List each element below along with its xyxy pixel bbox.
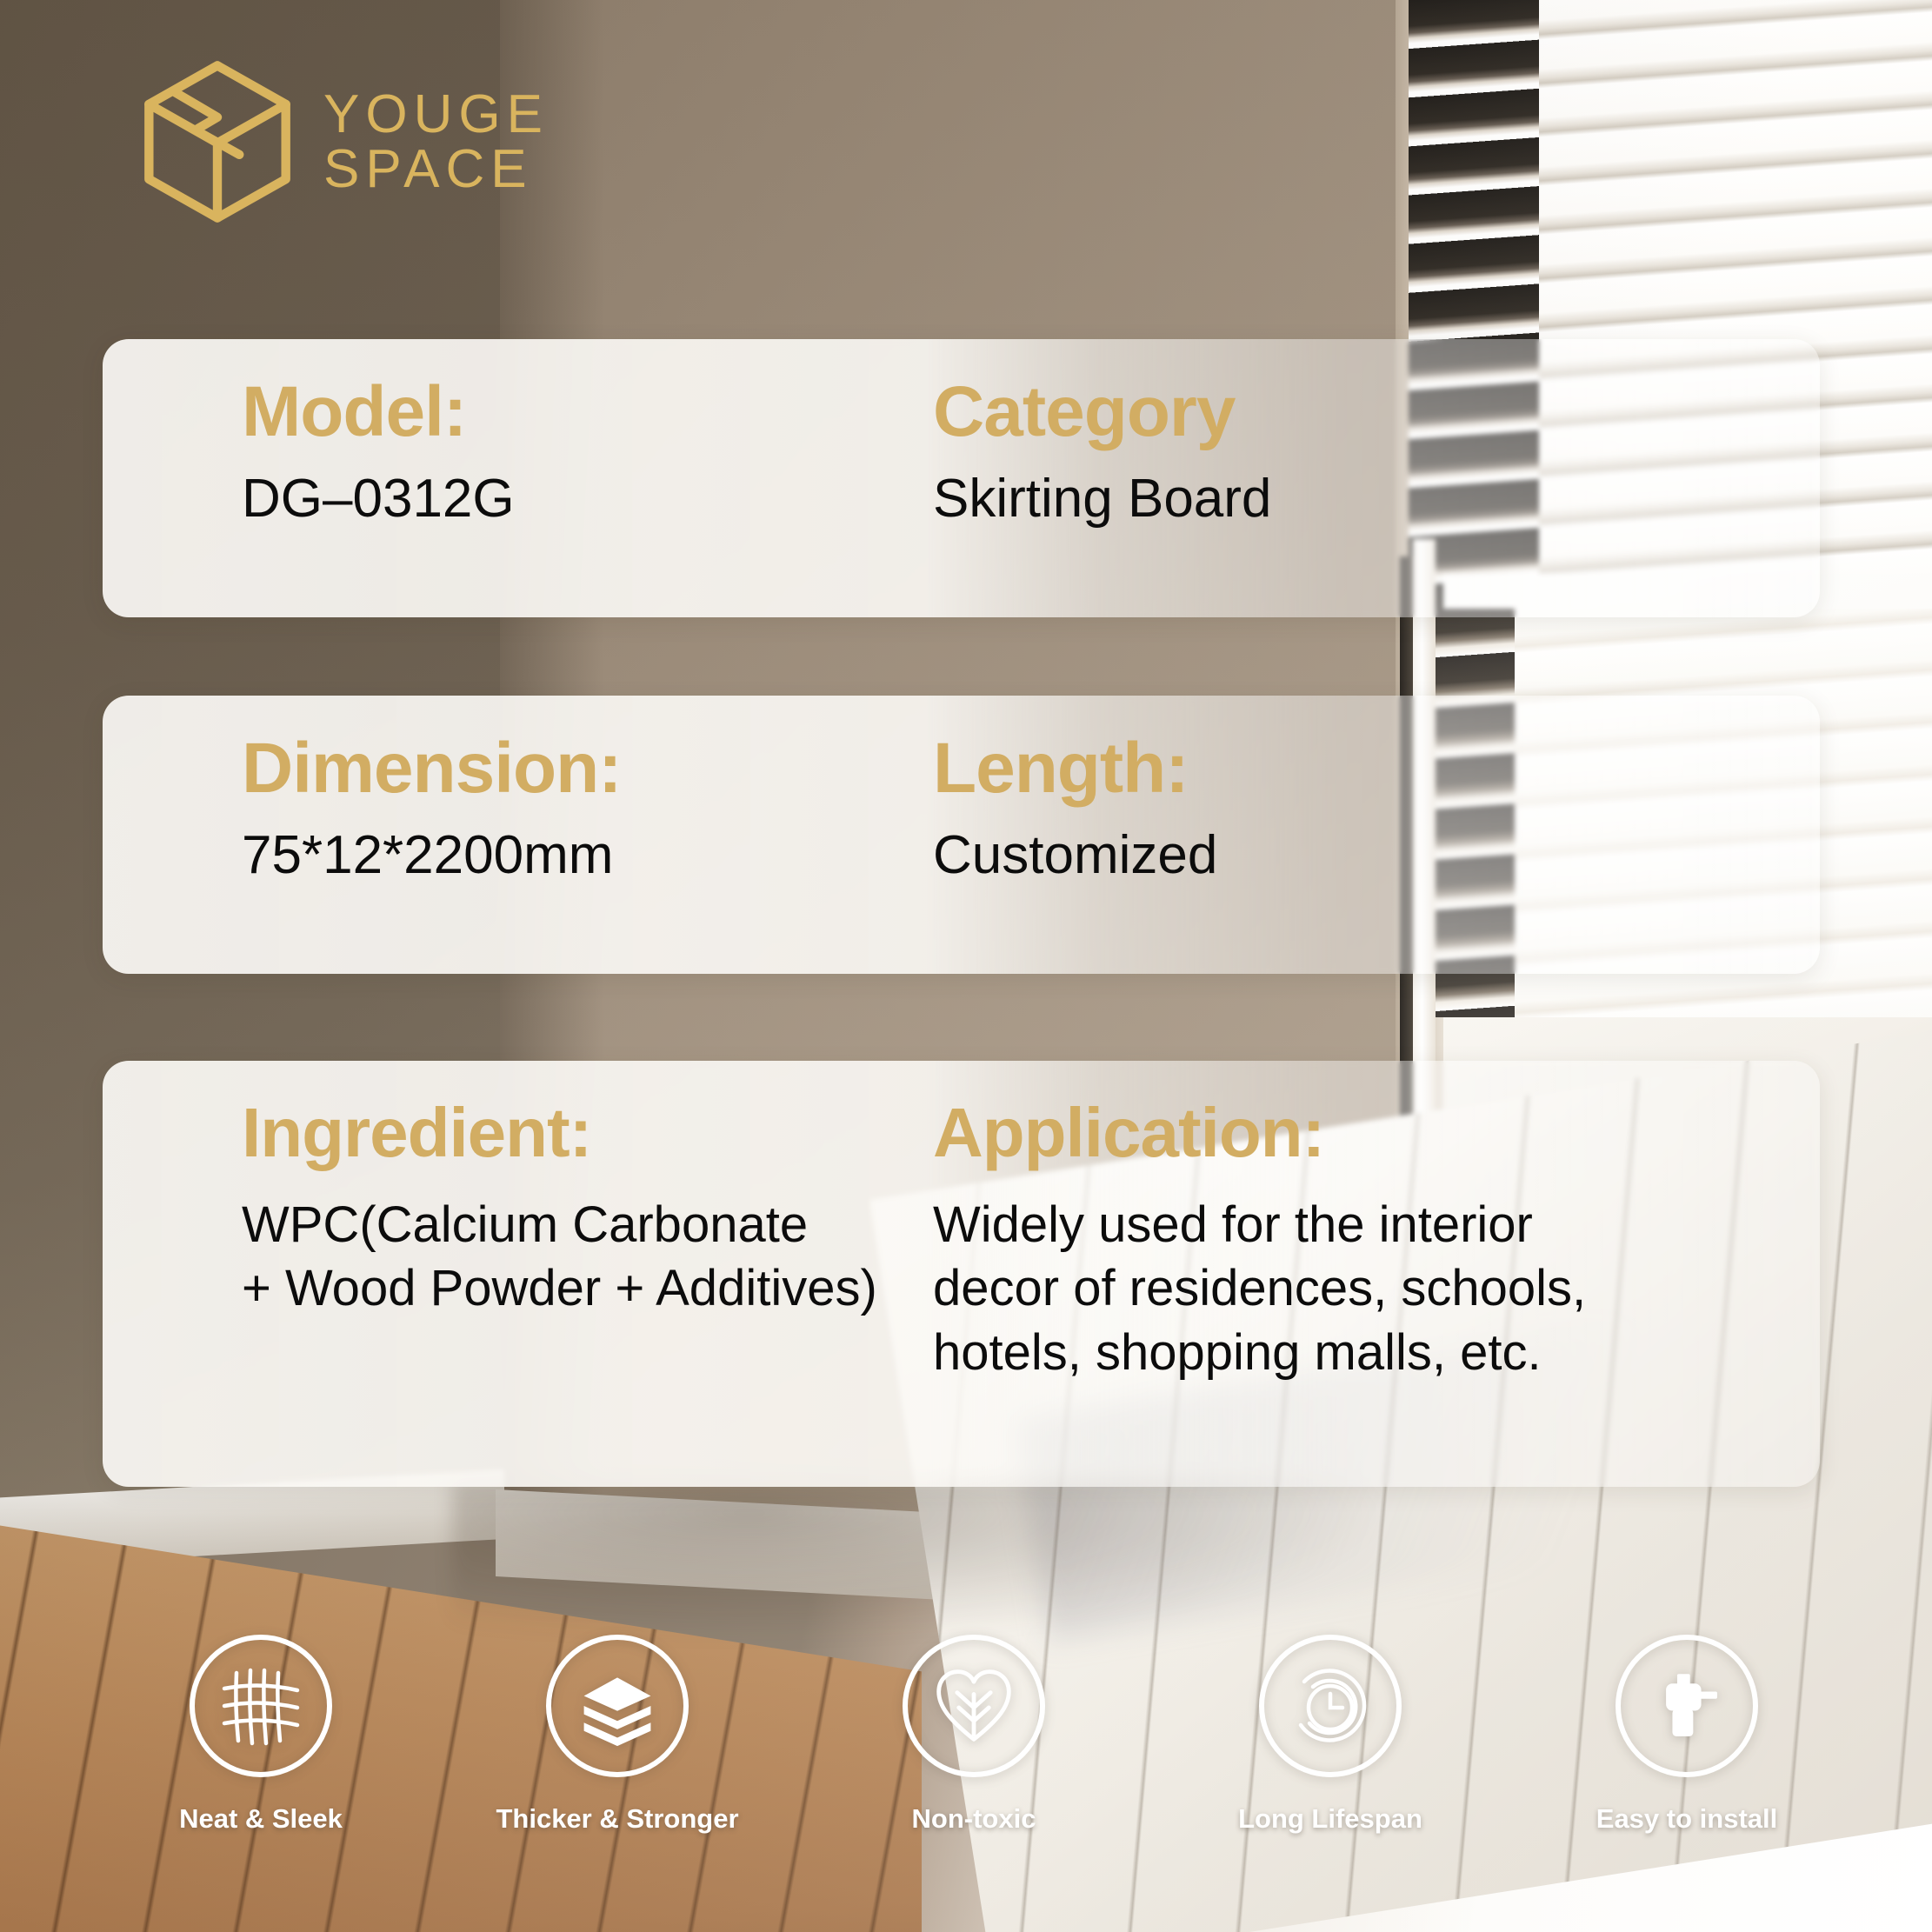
spec-card-dimension: Dimension: 75*12*2200mm Length: Customiz… [103,696,1820,974]
feature-non-toxic: Non-toxic [843,1635,1104,1835]
brand-logo: YOUGE SPACE [139,59,549,224]
feature-long-lifespan: Long Lifespan [1200,1635,1461,1835]
spec-value-model: DG–0312G [242,465,898,533]
spec-label-application: Application: [933,1096,1820,1170]
spec-value-length: Customized [933,822,1820,889]
spec-value-category: Skirting Board [933,465,1820,533]
spec-label-length: Length: [933,730,1820,808]
spec-field-model: Model: DG–0312G [103,374,898,577]
spec-field-dimension: Dimension: 75*12*2200mm [103,730,898,934]
brand-wordmark: YOUGE SPACE [323,87,549,197]
brand-name-line-2: SPACE [323,142,549,197]
feature-highlights-row: Neat & Sleek Thicker & Stronger [130,1635,1817,1835]
cube-box-logo-icon [139,59,296,224]
spec-label-category: Category [933,374,1820,451]
spec-label-ingredient: Ingredient: [242,1096,898,1170]
spec-value-ingredient: WPC(Calcium Carbonate + Wood Powder + Ad… [242,1193,898,1320]
feature-label: Neat & Sleek [179,1803,343,1835]
feature-label: Long Lifespan [1238,1803,1422,1835]
feature-easy-install: Easy to install [1556,1635,1817,1835]
stacked-layers-icon [546,1635,689,1777]
brand-name-line-1: YOUGE [323,87,549,142]
spec-field-length: Length: Customized [898,730,1820,934]
clock-timer-icon [1259,1635,1402,1777]
woven-grid-texture-icon [190,1635,332,1777]
feature-label: Non-toxic [912,1803,1036,1835]
spec-value-dimension: 75*12*2200mm [242,822,898,889]
feature-thicker-stronger: Thicker & Stronger [487,1635,748,1835]
feature-label: Easy to install [1596,1803,1777,1835]
spec-field-application: Application: Widely used for the interio… [898,1096,1820,1447]
spec-field-ingredient: Ingredient: WPC(Calcium Carbonate + Wood… [103,1096,898,1447]
spec-card-model: Model: DG–0312G Category Skirting Board [103,339,1820,617]
product-spec-infographic: YOUGE SPACE Model: DG–0312G Category Ski… [0,0,1932,1932]
spec-label-model: Model: [242,374,898,451]
spec-card-ingredient: Ingredient: WPC(Calcium Carbonate + Wood… [103,1061,1820,1487]
feature-label: Thicker & Stronger [496,1803,738,1835]
feature-neat-sleek: Neat & Sleek [130,1635,391,1835]
wall-base-shadow [452,1478,1443,1652]
power-drill-icon [1616,1635,1758,1777]
spec-value-application: Widely used for the interior decor of re… [933,1193,1820,1383]
spec-field-category: Category Skirting Board [898,374,1820,577]
spec-label-dimension: Dimension: [242,730,898,808]
heart-leaf-icon [903,1635,1045,1777]
